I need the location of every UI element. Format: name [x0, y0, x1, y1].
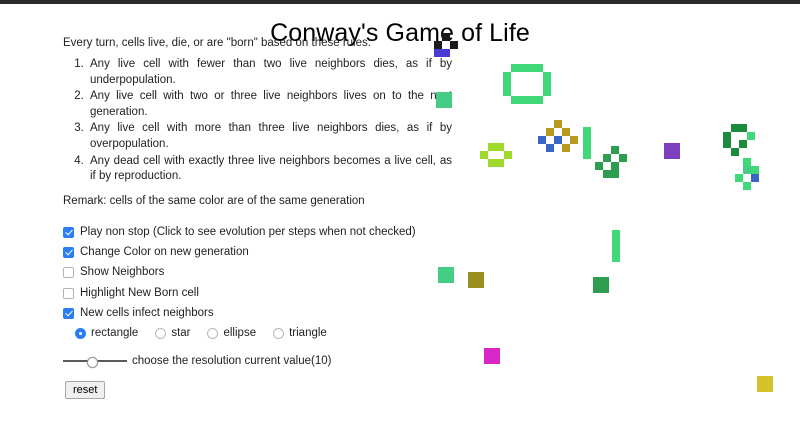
life-cell	[503, 80, 511, 88]
checkbox-highlight-new-born-cell[interactable]	[63, 288, 74, 299]
life-cell	[672, 143, 680, 151]
life-cell	[595, 162, 603, 170]
life-cell	[583, 151, 591, 159]
life-cell	[611, 170, 619, 178]
life-cell	[743, 182, 751, 190]
life-cell	[583, 143, 591, 151]
radio-item-ellipse[interactable]: ellipse	[207, 327, 256, 339]
life-cell	[765, 376, 773, 384]
life-cell	[601, 277, 609, 285]
life-cell	[739, 124, 747, 132]
option-label-change-color-on-new-generation: Change Color on new generation	[80, 246, 249, 258]
life-cell	[757, 384, 765, 392]
life-cell	[546, 128, 554, 136]
life-cell	[611, 162, 619, 170]
life-cell	[765, 384, 773, 392]
reset-button[interactable]: reset	[65, 381, 105, 399]
radio-item-triangle[interactable]: triangle	[273, 327, 327, 339]
radio-ellipse[interactable]	[207, 328, 218, 339]
life-cell	[611, 146, 619, 154]
life-cell	[503, 88, 511, 96]
life-cell	[672, 151, 680, 159]
option-label-play-non-stop: Play non stop (Click to see evolution pe…	[80, 226, 416, 238]
life-cell	[543, 72, 551, 80]
rule-item: Any dead cell with exactly three live ne…	[87, 154, 452, 185]
radio-item-rectangle[interactable]: rectangle	[75, 327, 138, 339]
life-cell	[538, 136, 546, 144]
resolution-slider[interactable]	[63, 355, 127, 367]
life-cell	[511, 96, 519, 104]
life-cell	[503, 72, 511, 80]
rule-item: Any live cell with fewer than two live n…	[87, 57, 452, 88]
radio-item-star[interactable]: star	[155, 327, 190, 339]
life-cell	[434, 49, 442, 57]
life-cell	[570, 136, 578, 144]
option-row-new-cells-infect-neighbors[interactable]: New cells infect neighbors	[63, 307, 214, 319]
radio-label-star: star	[171, 327, 190, 339]
life-cell	[496, 159, 504, 167]
rule-item: Any live cell with more than three live …	[87, 121, 452, 152]
life-cell	[731, 124, 739, 132]
option-row-highlight-new-born-cell[interactable]: Highlight New Born cell	[63, 287, 199, 299]
life-cell	[484, 356, 492, 364]
life-cell	[519, 64, 527, 72]
life-cell	[562, 128, 570, 136]
life-cell	[504, 151, 512, 159]
checkbox-change-color-on-new-generation[interactable]	[63, 247, 74, 258]
life-cell	[535, 96, 543, 104]
resolution-slider-row: choose the resolution current value(10)	[63, 355, 331, 367]
life-cell	[562, 144, 570, 152]
life-cell	[731, 148, 739, 156]
option-row-show-neighbors[interactable]: Show Neighbors	[63, 266, 164, 278]
checkbox-play-non-stop[interactable]	[63, 227, 74, 238]
life-cell	[480, 151, 488, 159]
shape-radio-group[interactable]: rectanglestarellipsetriangle	[75, 327, 344, 339]
option-row-play-non-stop[interactable]: Play non stop (Click to see evolution pe…	[63, 226, 416, 238]
radio-label-triangle: triangle	[289, 327, 327, 339]
option-label-show-neighbors: Show Neighbors	[80, 266, 164, 278]
life-cell	[476, 272, 484, 280]
life-cell	[757, 376, 765, 384]
life-cell	[527, 96, 535, 104]
life-cell	[601, 285, 609, 293]
life-cell	[612, 254, 620, 262]
radio-label-ellipse: ellipse	[223, 327, 256, 339]
life-cell	[747, 132, 755, 140]
life-cell	[446, 267, 454, 275]
life-cell	[603, 170, 611, 178]
life-cell	[527, 64, 535, 72]
life-cell	[468, 272, 476, 280]
option-row-change-color-on-new-generation[interactable]: Change Color on new generation	[63, 246, 249, 258]
life-cell	[593, 277, 601, 285]
radio-triangle[interactable]	[273, 328, 284, 339]
rule-item: Any live cell with two or three live nei…	[87, 89, 452, 120]
life-cell	[612, 230, 620, 238]
life-cell	[446, 275, 454, 283]
life-cell	[492, 348, 500, 356]
life-cell	[743, 158, 751, 166]
life-cell	[468, 280, 476, 288]
life-cell	[554, 136, 562, 144]
life-cell	[603, 154, 611, 162]
checkbox-new-cells-infect-neighbors[interactable]	[63, 308, 74, 319]
option-label-new-cells-infect-neighbors: New cells infect neighbors	[80, 307, 214, 319]
life-cell	[583, 135, 591, 143]
life-cell	[438, 275, 446, 283]
life-cell	[612, 238, 620, 246]
life-cell	[583, 127, 591, 135]
life-cell	[664, 151, 672, 159]
life-cell	[476, 280, 484, 288]
rules-list: Any live cell with fewer than two live n…	[63, 57, 452, 186]
radio-star[interactable]	[155, 328, 166, 339]
slider-thumb[interactable]	[87, 357, 98, 368]
life-cell	[743, 166, 751, 174]
life-cell	[554, 120, 562, 128]
life-cell	[751, 166, 759, 174]
life-cell	[612, 246, 620, 254]
life-cell	[488, 159, 496, 167]
life-cell	[751, 174, 759, 182]
life-cell	[519, 96, 527, 104]
life-cell	[543, 88, 551, 96]
life-cell	[723, 132, 731, 140]
life-cell	[593, 285, 601, 293]
life-cell	[664, 143, 672, 151]
radio-label-rectangle: rectangle	[91, 327, 138, 339]
life-cell	[739, 140, 747, 148]
life-cell	[442, 49, 450, 57]
intro-text: Every turn, cells live, die, or are "bor…	[63, 37, 371, 49]
life-cell	[492, 356, 500, 364]
life-cell	[488, 143, 496, 151]
top-band	[0, 0, 800, 4]
life-cell	[438, 267, 446, 275]
life-cell	[543, 80, 551, 88]
remark-text: Remark: cells of the same color are of t…	[63, 195, 365, 207]
life-cell	[511, 64, 519, 72]
resolution-slider-label: choose the resolution current value(10)	[132, 355, 331, 367]
option-label-highlight-new-born-cell: Highlight New Born cell	[80, 287, 199, 299]
life-cell	[619, 154, 627, 162]
life-cell	[496, 143, 504, 151]
radio-rectangle[interactable]	[75, 328, 86, 339]
life-cell	[735, 174, 743, 182]
life-cell	[535, 64, 543, 72]
life-cell	[484, 348, 492, 356]
checkbox-show-neighbors[interactable]	[63, 267, 74, 278]
life-cell	[723, 140, 731, 148]
life-cell	[546, 144, 554, 152]
